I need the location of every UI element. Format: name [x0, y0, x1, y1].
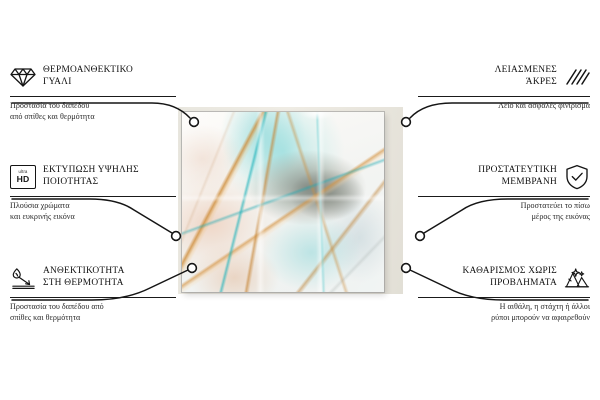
feature-title: ΕΚΤΥΠΩΣΗ ΥΨΗΛΗΣ ΠΟΙΟΤΗΤΑΣ: [43, 165, 139, 188]
feature-heat-durability[interactable]: ΑΝΘΕΚΤΙΚΟΤΗΤΑ ΣΤΗ ΘΕΡΜΟΤΗΤΑ Προστασία το…: [10, 263, 176, 323]
feature-title: ΑΝΘΕΚΤΙΚΟΤΗΤΑ ΣΤΗ ΘΕΡΜΟΤΗΤΑ: [43, 266, 125, 289]
feature-divider: [418, 96, 590, 97]
shield-check-icon: [564, 164, 590, 190]
feature-description: Πλούσια χρώματα και ευκρινής εικόνα: [10, 201, 176, 222]
sparkle-clean-icon: [564, 265, 590, 291]
feature-title: ΚΑΘΑΡΙΣΜΟΣ ΧΩΡΙΣ ΠΡΟΒΛΗΜΑΤΑ: [463, 266, 557, 289]
feature-divider: [10, 196, 176, 197]
feature-divider: [10, 96, 176, 97]
ultra-hd-icon-bottom: HD: [17, 175, 30, 184]
feature-title: ΛΕΙΑΣΜΕΝΕΣ ΆΚΡΕΣ: [495, 65, 557, 88]
glass-sheen: [182, 112, 384, 292]
connector-dot-right-2: [416, 232, 425, 241]
feature-description: Λείο και ασφαλές φινίρισμα: [418, 101, 590, 112]
feature-header: ΛΕΙΑΣΜΕΝΕΣ ΆΚΡΕΣ: [418, 62, 590, 92]
feature-high-quality-print[interactable]: ultra HD ΕΚΤΥΠΩΣΗ ΥΨΗΛΗΣ ΠΟΙΟΤΗΤΑΣ Πλούσ…: [10, 162, 176, 222]
feature-header: ΚΑΘΑΡΙΣΜΟΣ ΧΩΡΙΣ ΠΡΟΒΛΗΜΑΤΑ: [418, 263, 590, 293]
feature-polished-edges[interactable]: ΛΕΙΑΣΜΕΝΕΣ ΆΚΡΕΣ Λείο και ασφαλές φινίρι…: [418, 62, 590, 112]
feature-protective-film[interactable]: ΠΡΟΣΤΑΤΕΥΤΙΚΗ ΜΕΜΒΡΑΝΗ Προστατεύει το πί…: [418, 162, 590, 222]
feature-header: ΑΝΘΕΚΤΙΚΟΤΗΤΑ ΣΤΗ ΘΕΡΜΟΤΗΤΑ: [10, 263, 176, 293]
feature-header: ΠΡΟΣΤΑΤΕΥΤΙΚΗ ΜΕΜΒΡΑΝΗ: [418, 162, 590, 192]
ultra-hd-icon: ultra HD: [10, 164, 36, 190]
feature-description: Η αιθάλη, η στάχτη ή άλλοι ρύποι μπορούν…: [418, 302, 590, 323]
feature-heat-resistant-glass[interactable]: ΘΕΡΜΟΑΝΘΕΚΤΙΚΟ ΓΥΑΛΙ Προστασία του δαπέδ…: [10, 62, 176, 122]
feature-divider: [418, 297, 590, 298]
feature-title: ΘΕΡΜΟΑΝΘΕΚΤΙΚΟ ΓΥΑΛΙ: [43, 65, 133, 88]
feature-title: ΠΡΟΣΤΑΤΕΥΤΙΚΗ ΜΕΜΒΡΑΝΗ: [478, 165, 557, 188]
feature-description: Προστασία του δαπέδου από σπίθες και θερ…: [10, 302, 176, 323]
feature-header: ultra HD ΕΚΤΥΠΩΣΗ ΥΨΗΛΗΣ ΠΟΙΟΤΗΤΑΣ: [10, 162, 176, 192]
feature-divider: [418, 196, 590, 197]
feature-description: Προστασία του δαπέδου από σπίθες και θερ…: [10, 101, 176, 122]
polished-edges-icon: [564, 64, 590, 90]
product-image: [178, 107, 403, 294]
feature-divider: [10, 297, 176, 298]
glass-panel: [182, 112, 384, 292]
feature-easy-cleaning[interactable]: ΚΑΘΑΡΙΣΜΟΣ ΧΩΡΙΣ ΠΡΟΒΛΗΜΑΤΑ Η αιθάλη, η …: [418, 263, 590, 323]
feature-header: ΘΕΡΜΟΑΝΘΕΚΤΙΚΟ ΓΥΑΛΙ: [10, 62, 176, 92]
heat-deflect-icon: [10, 265, 36, 291]
diamond-icon: [10, 64, 36, 90]
feature-description: Προστατεύει το πίσω μέρος της εικόνας: [418, 201, 590, 222]
infographic-root: ΘΕΡΜΟΑΝΘΕΚΤΙΚΟ ΓΥΑΛΙ Προστασία του δαπέδ…: [0, 0, 600, 400]
